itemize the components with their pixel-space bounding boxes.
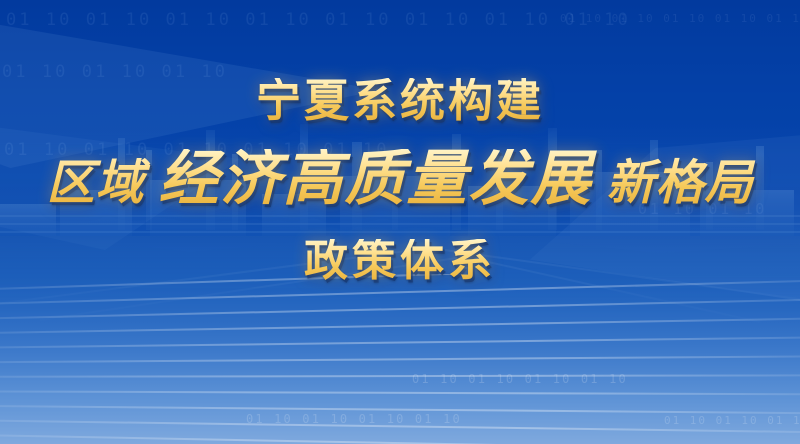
headline-line-1: 宁夏系统构建 (256, 78, 544, 123)
headline-line-2-part-1: 区域 (40, 159, 150, 207)
poster-headline: 宁夏系统构建 区域 经济高质量发展 新格局 政策体系 (0, 0, 800, 444)
poster-banner: 01 10 01 10 01 10 01 10 01 10 01 10 01 1… (0, 0, 800, 444)
headline-line-2-part-3: 新格局 (601, 159, 760, 207)
headline-line-3: 政策体系 (304, 239, 496, 283)
headline-line-2-part-2: 经济高质量发展 (151, 149, 601, 209)
headline-line-2: 区域 经济高质量发展 新格局 (40, 149, 759, 209)
